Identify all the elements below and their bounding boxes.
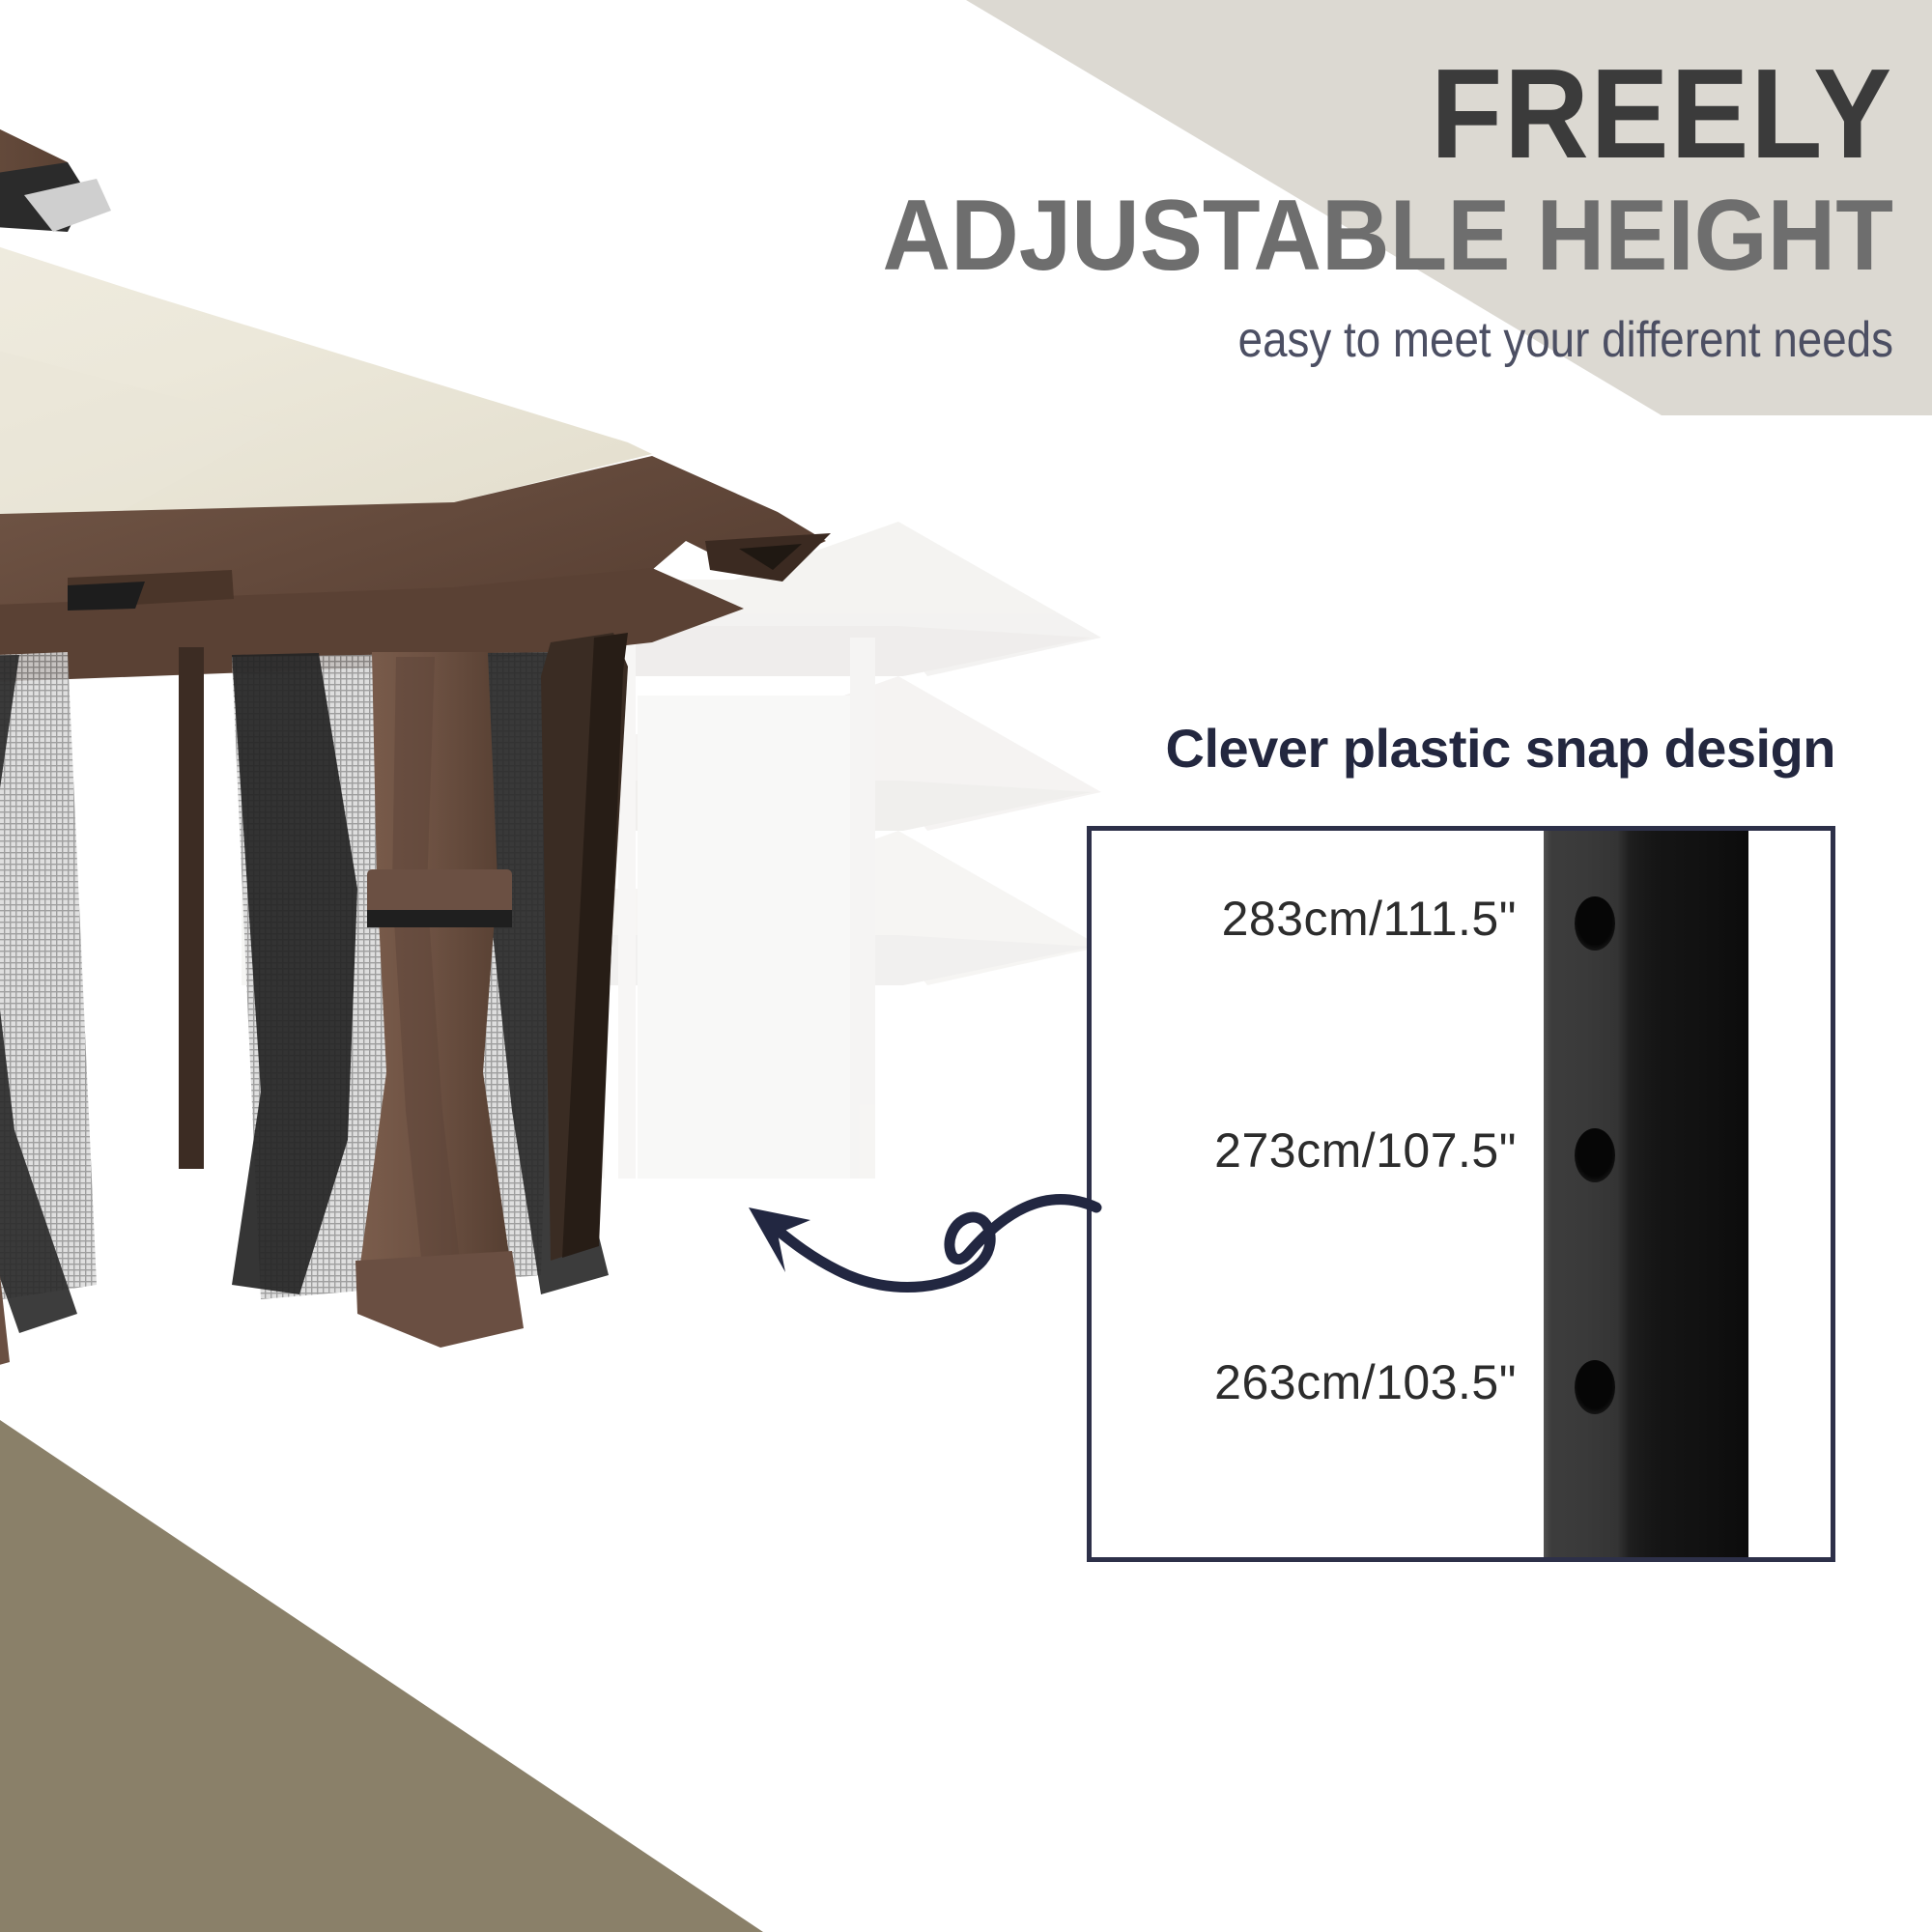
marketing-image-canvas: FREELY ADJUSTABLE HEIGHT easy to meet yo… [0,0,1932,1932]
snap-hole-middle [1575,1128,1615,1182]
feature-title: Clever plastic snap design [1063,717,1835,780]
snap-design-inset-box: 283cm/111.5" 273cm/107.5" 263cm/103.5" [1087,826,1835,1562]
callout-arrow-icon [710,1164,1116,1357]
headline-line-2: ADJUSTABLE HEIGHT [695,184,1893,289]
pole-highlight-edge [1544,826,1551,1562]
headline-subtitle: easy to meet your different needs [771,310,1893,370]
snap-hole-bottom [1575,1360,1615,1414]
measure-label-263: 263cm/103.5" [1130,1354,1517,1410]
measure-label-273: 273cm/107.5" [1130,1122,1517,1179]
measure-label-283: 283cm/111.5" [1130,891,1517,947]
headline-block: FREELY ADJUSTABLE HEIGHT easy to meet yo… [618,50,1893,371]
adjustable-pole-image [1544,826,1748,1562]
headline-line-1: FREELY [721,50,1893,178]
snap-hole-top [1575,896,1615,951]
